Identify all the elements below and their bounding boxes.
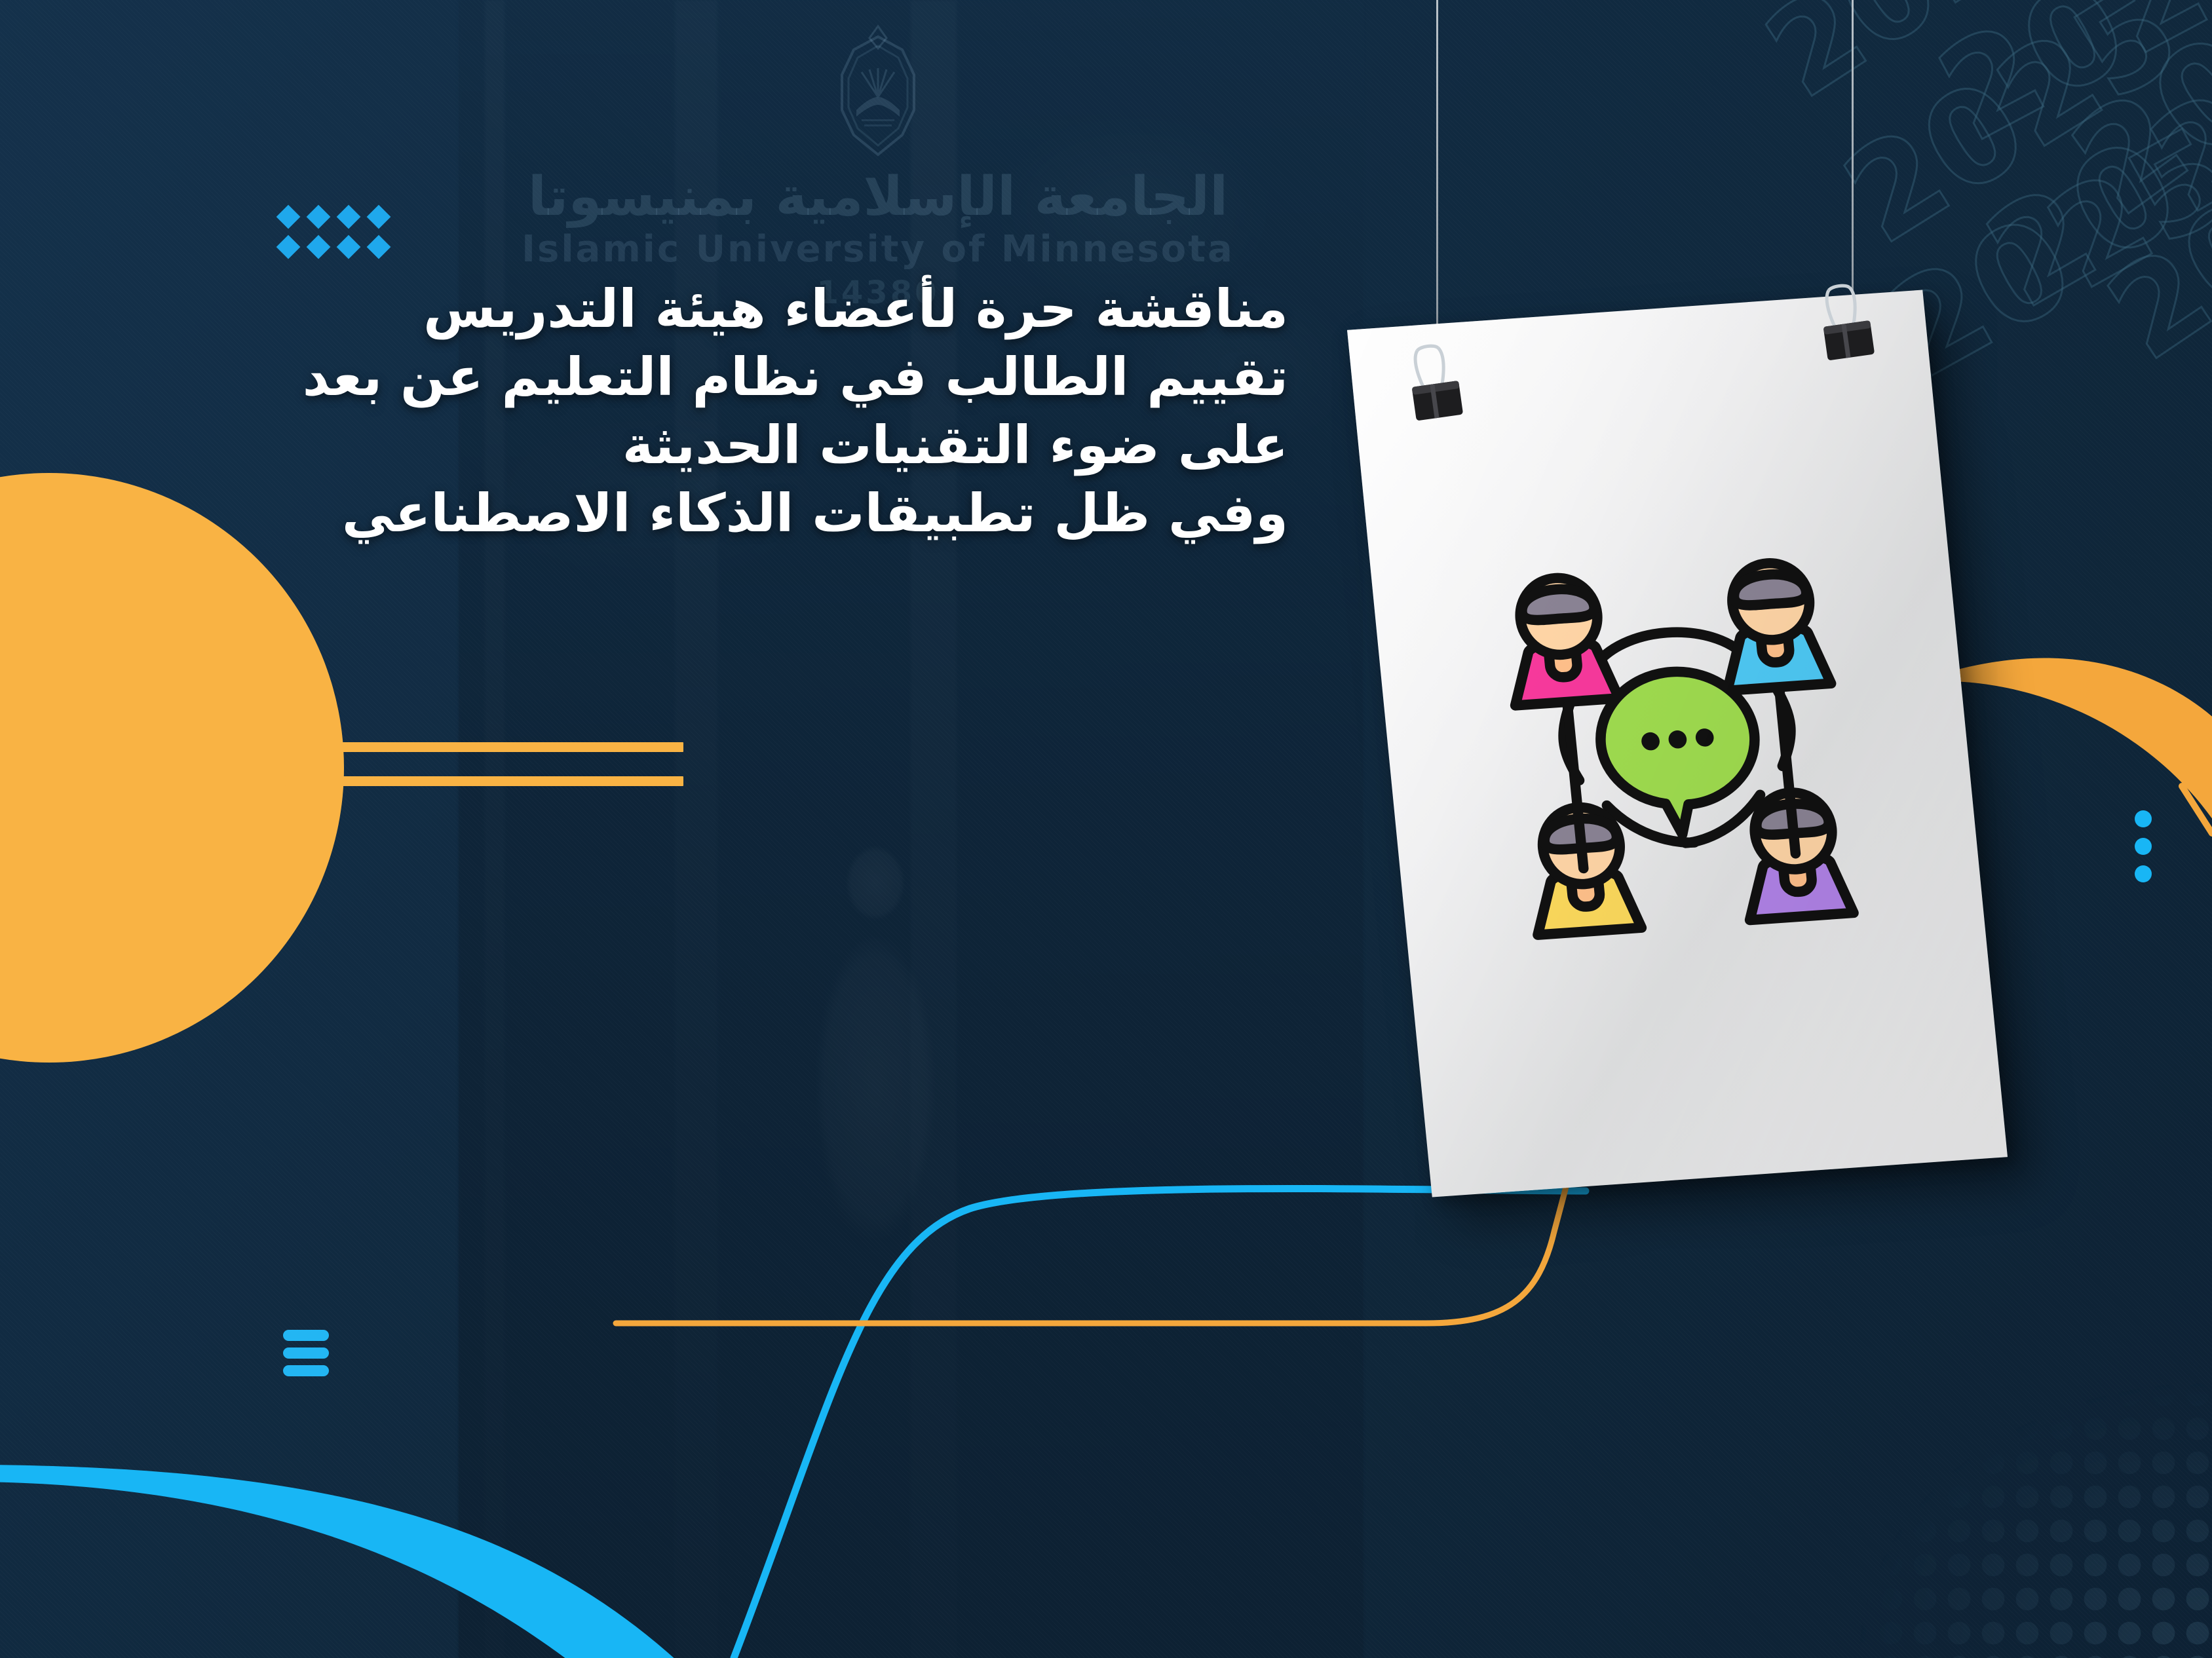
cyan-swoosh-shape [0,1465,695,1658]
person-top-right [1715,559,1831,690]
title-divider [285,742,683,786]
diamond-dot [307,235,331,259]
side-dot [2135,810,2152,827]
hamburger-bar [283,1365,329,1376]
hamburger-bar [283,1347,329,1359]
diamond-dot [276,205,301,229]
diamond-dot [307,205,331,229]
side-dot [2135,865,2152,882]
poster-canvas: 2025 2025 2025 2025 2025 2025 2025 الجام… [0,0,2212,1658]
divider-line-bottom [285,776,683,786]
group-discussion-network-icon [1429,490,1924,971]
hamburger-bar [283,1330,329,1341]
title-line-1: مناقشة حرة لأعضاء هيئة التدريس [253,275,1288,343]
page-title: مناقشة حرة لأعضاء هيئة التدريس تقييم الط… [253,275,1288,548]
diamond-dot [337,235,361,259]
side-dot [2135,838,2152,855]
hamburger-lines-icon [283,1330,329,1376]
vertical-dots-icon [2135,810,2152,893]
hanging-poster [1389,308,1966,1232]
title-line-3: على ضوء التقنيات الحديثة [253,411,1288,480]
divider-line-top [285,742,683,752]
orange-swoosh-shape [1953,658,2212,832]
person-top-left [1503,575,1619,706]
diamond-dot-grid-icon [273,202,394,262]
binder-clip-right [1810,279,1883,366]
diamond-dot [276,235,301,259]
cyan-curve-line [734,1188,1586,1658]
diamond-dot [337,205,361,229]
binder-clip-left [1398,339,1472,426]
title-line-4: وفي ظل تطبيقات الذكاء الاصطناعي [253,480,1288,548]
diamond-dot [367,235,391,259]
title-line-2: تقييم الطالب في نظام التعليم عن بعد [253,343,1288,411]
diamond-dot [367,205,391,229]
hanging-wire-left [1436,0,1438,367]
poster-paper [1347,290,2008,1197]
